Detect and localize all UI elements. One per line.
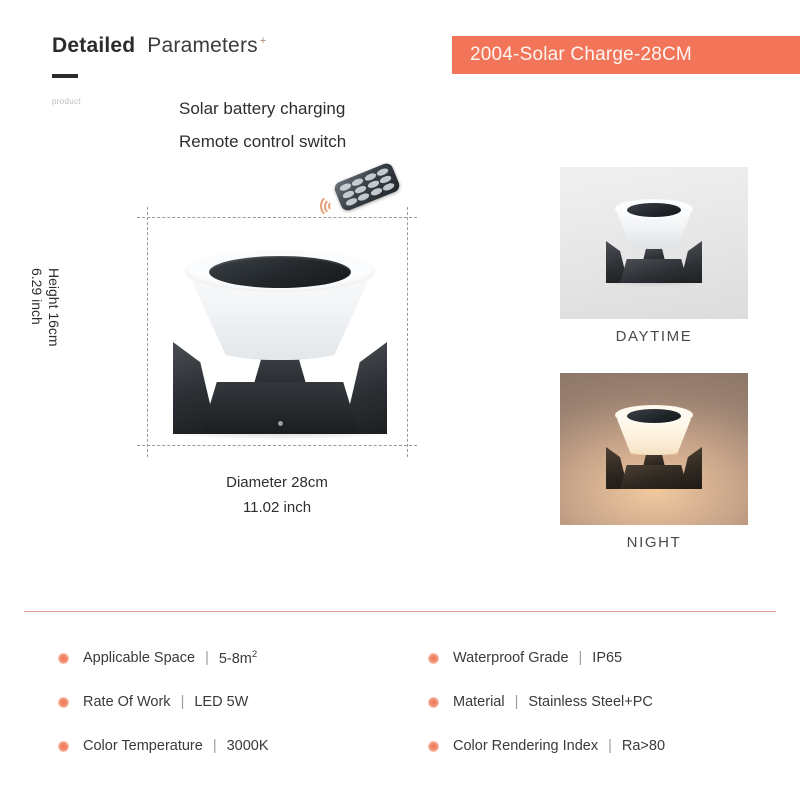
spec-separator: | <box>181 694 185 710</box>
thumbnail-caption-daytime: DAYTIME <box>560 328 748 345</box>
dimension-line-right <box>407 207 408 457</box>
spec-section-divider <box>24 611 776 612</box>
spec-row-color-temperature: Color Temperature | 3000K <box>58 724 269 768</box>
feature-text-solar: Solar battery charging <box>179 99 345 119</box>
spec-row-color-rendering-index: Color Rendering Index | Ra>80 <box>428 724 665 768</box>
spec-row-applicable-space: Applicable Space | 5-8m2 <box>58 636 269 680</box>
model-banner: 2004-Solar Charge-28CM <box>452 36 800 74</box>
bullet-dot-icon <box>58 697 69 708</box>
mini-plinth <box>620 259 688 283</box>
mini-lamp-night <box>598 405 710 489</box>
spec-separator: | <box>579 650 583 666</box>
remote-control-icon <box>333 161 402 212</box>
mini-solar-panel <box>627 409 681 423</box>
bullet-dot-icon <box>58 741 69 752</box>
mini-lamp-daytime <box>598 199 710 283</box>
spec-separator: | <box>515 694 519 710</box>
dimension-line-left <box>147 207 148 457</box>
model-banner-text: 2004-Solar Charge-28CM <box>470 44 692 66</box>
dimension-line-bottom <box>137 445 417 446</box>
thumbnail-caption-night: NIGHT <box>560 534 748 551</box>
height-dimension-inch: 6.29 inch <box>28 268 45 408</box>
bullet-dot-icon <box>428 653 439 664</box>
title-underline-rule <box>52 74 78 78</box>
page-title: Detailed Parameters + <box>52 34 266 58</box>
bullet-dot-icon <box>428 741 439 752</box>
product-tag-label: product <box>52 97 81 106</box>
product-screw <box>278 421 283 426</box>
spec-row-waterproof-grade: Waterproof Grade | IP65 <box>428 636 665 680</box>
spec-value: 3000K <box>227 738 269 754</box>
mini-plinth <box>620 465 688 489</box>
diameter-dimension-inch: 11.02 inch <box>137 495 417 520</box>
spec-column-left: Applicable Space | 5-8m2 Rate Of Work | … <box>58 636 269 768</box>
height-dimension-label: Height 16cm 6.29 inch <box>28 268 62 408</box>
diameter-dimension-label: Diameter 28cm 11.02 inch <box>137 470 417 520</box>
spec-label: Waterproof Grade <box>453 650 569 666</box>
spec-separator: | <box>213 738 217 754</box>
spec-value: LED 5W <box>194 694 248 710</box>
product-main-image <box>155 248 405 434</box>
thumbnail-daytime[interactable] <box>560 167 748 319</box>
spec-value: Ra>80 <box>622 738 665 754</box>
product-solar-panel <box>209 256 351 288</box>
dimension-line-top <box>137 217 417 218</box>
spec-label: Color Temperature <box>83 738 203 754</box>
spec-value-text: 5-8m <box>219 651 252 667</box>
spec-separator: | <box>608 738 612 754</box>
page-title-bold: Detailed <box>52 34 135 58</box>
feature-text-remote: Remote control switch <box>179 132 346 152</box>
spec-value: IP65 <box>592 650 622 666</box>
spec-value-superscript: 2 <box>252 649 257 660</box>
spec-label: Applicable Space <box>83 650 195 666</box>
spec-value: Stainless Steel+PC <box>528 694 653 710</box>
remote-keypad <box>339 167 395 207</box>
spec-column-right: Waterproof Grade | IP65 Material | Stain… <box>428 636 665 768</box>
spec-separator: | <box>205 650 209 666</box>
spec-label: Color Rendering Index <box>453 738 598 754</box>
plus-superscript-icon: + <box>260 35 266 47</box>
spec-label: Rate Of Work <box>83 694 171 710</box>
bullet-dot-icon <box>428 697 439 708</box>
bullet-dot-icon <box>58 653 69 664</box>
page-title-light: Parameters <box>147 34 258 58</box>
thumbnail-night[interactable] <box>560 373 748 525</box>
mini-solar-panel <box>627 203 681 217</box>
product-plinth <box>201 382 359 434</box>
spec-row-rate-of-work: Rate Of Work | LED 5W <box>58 680 269 724</box>
height-dimension-cm: Height 16cm <box>46 268 62 347</box>
diameter-dimension-cm: Diameter 28cm <box>137 470 417 495</box>
spec-row-material: Material | Stainless Steel+PC <box>428 680 665 724</box>
spec-value: 5-8m2 <box>219 649 257 667</box>
spec-label: Material <box>453 694 505 710</box>
